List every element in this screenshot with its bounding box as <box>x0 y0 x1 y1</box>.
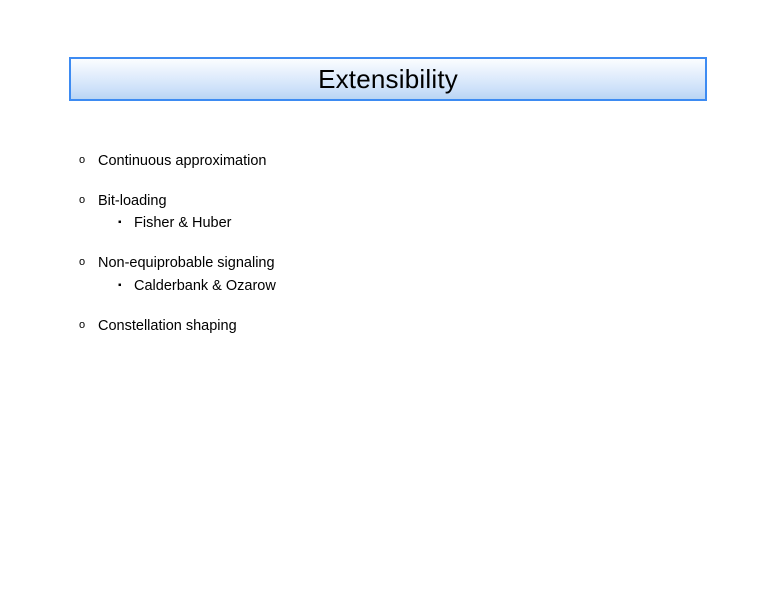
circle-bullet-icon: o <box>79 254 98 272</box>
circle-bullet-icon: o <box>79 317 98 335</box>
square-bullet-icon: ▪ <box>118 277 134 295</box>
list-item-label: Continuous approximation <box>98 152 266 170</box>
slide-title-box: Extensibility <box>69 57 707 101</box>
circle-bullet-icon: o <box>79 152 98 170</box>
list-item-label: Calderbank & Ozarow <box>134 277 276 295</box>
list-item-label: Bit-loading <box>98 192 167 210</box>
list-item: ▪ Calderbank & Ozarow <box>118 277 699 295</box>
circle-bullet-icon: o <box>79 192 98 210</box>
list-item-label: Fisher & Huber <box>134 214 232 232</box>
list-item: ▪ Fisher & Huber <box>118 214 699 232</box>
list-item: o Bit-loading <box>79 192 699 210</box>
slide: Extensibility o Continuous approximation… <box>0 0 776 600</box>
bullet-list: o Continuous approximation o Bit-loading… <box>79 152 699 335</box>
list-item-label: Non-equiprobable signaling <box>98 254 275 272</box>
square-bullet-icon: ▪ <box>118 214 134 232</box>
spacer <box>79 170 699 192</box>
list-item: o Non-equiprobable signaling <box>79 254 699 272</box>
page-title: Extensibility <box>318 66 458 92</box>
list-item: o Continuous approximation <box>79 152 699 170</box>
spacer <box>79 232 699 254</box>
spacer <box>79 295 699 317</box>
list-item-label: Constellation shaping <box>98 317 237 335</box>
list-item: o Constellation shaping <box>79 317 699 335</box>
